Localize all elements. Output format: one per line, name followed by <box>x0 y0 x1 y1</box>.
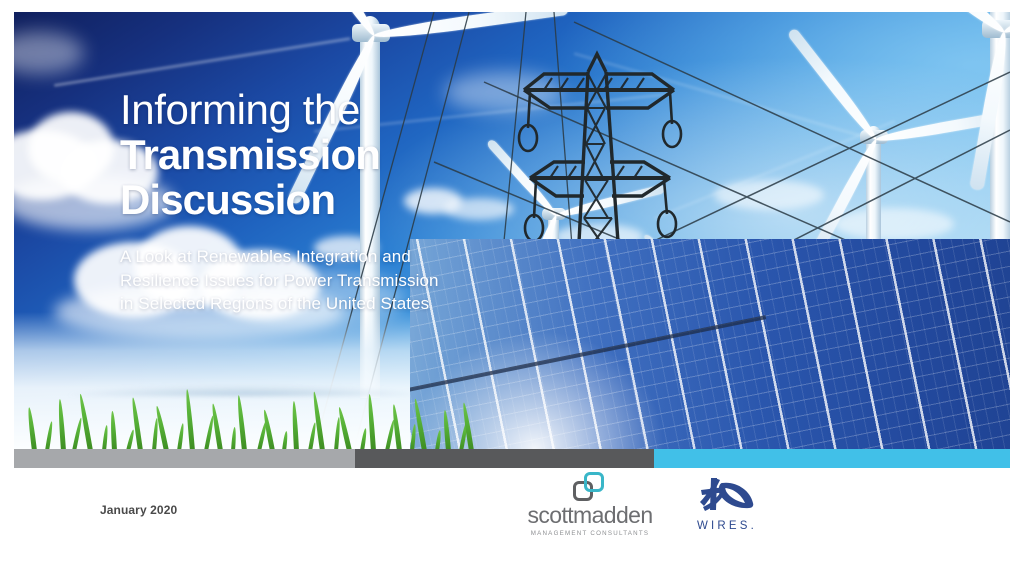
title-block: Informing the Transmission Discussion A … <box>120 88 450 316</box>
scottmadden-tagline: MANAGEMENT CONSULTANTS <box>510 530 670 537</box>
date-label: January 2020 <box>100 503 177 517</box>
scottmadden-logo: scottmadden MANAGEMENT CONSULTANTS <box>510 472 670 537</box>
wires-wordmark: WIRES. <box>682 520 772 532</box>
subtitle: A Look at Renewables Integration and Res… <box>120 245 450 316</box>
rounded-square-teal-icon <box>584 472 604 492</box>
title-line-1: Informing the <box>120 88 450 133</box>
wires-logo: WIRES. <box>682 476 772 532</box>
color-bar-segment-light-gray <box>14 449 355 468</box>
title-line-3: Discussion <box>120 178 450 223</box>
grass-foreground <box>14 363 484 449</box>
hero-image: Informing the Transmission Discussion A … <box>14 12 1010 449</box>
color-bar-segment-dark-gray <box>355 449 655 468</box>
solar-panel-array <box>410 239 1010 449</box>
color-bar-segment-cyan <box>654 449 1010 468</box>
scottmadden-mark-icon <box>573 472 607 502</box>
logo-row: scottmadden MANAGEMENT CONSULTANTS WIRES… <box>500 472 800 544</box>
title-slide: Informing the Transmission Discussion A … <box>0 0 1024 576</box>
scottmadden-wordmark: scottmadden <box>510 504 670 527</box>
color-bar <box>14 449 1010 468</box>
wires-mark-icon <box>696 476 758 514</box>
title-line-2: Transmission <box>120 133 450 178</box>
wind-turbine <box>904 12 1010 272</box>
